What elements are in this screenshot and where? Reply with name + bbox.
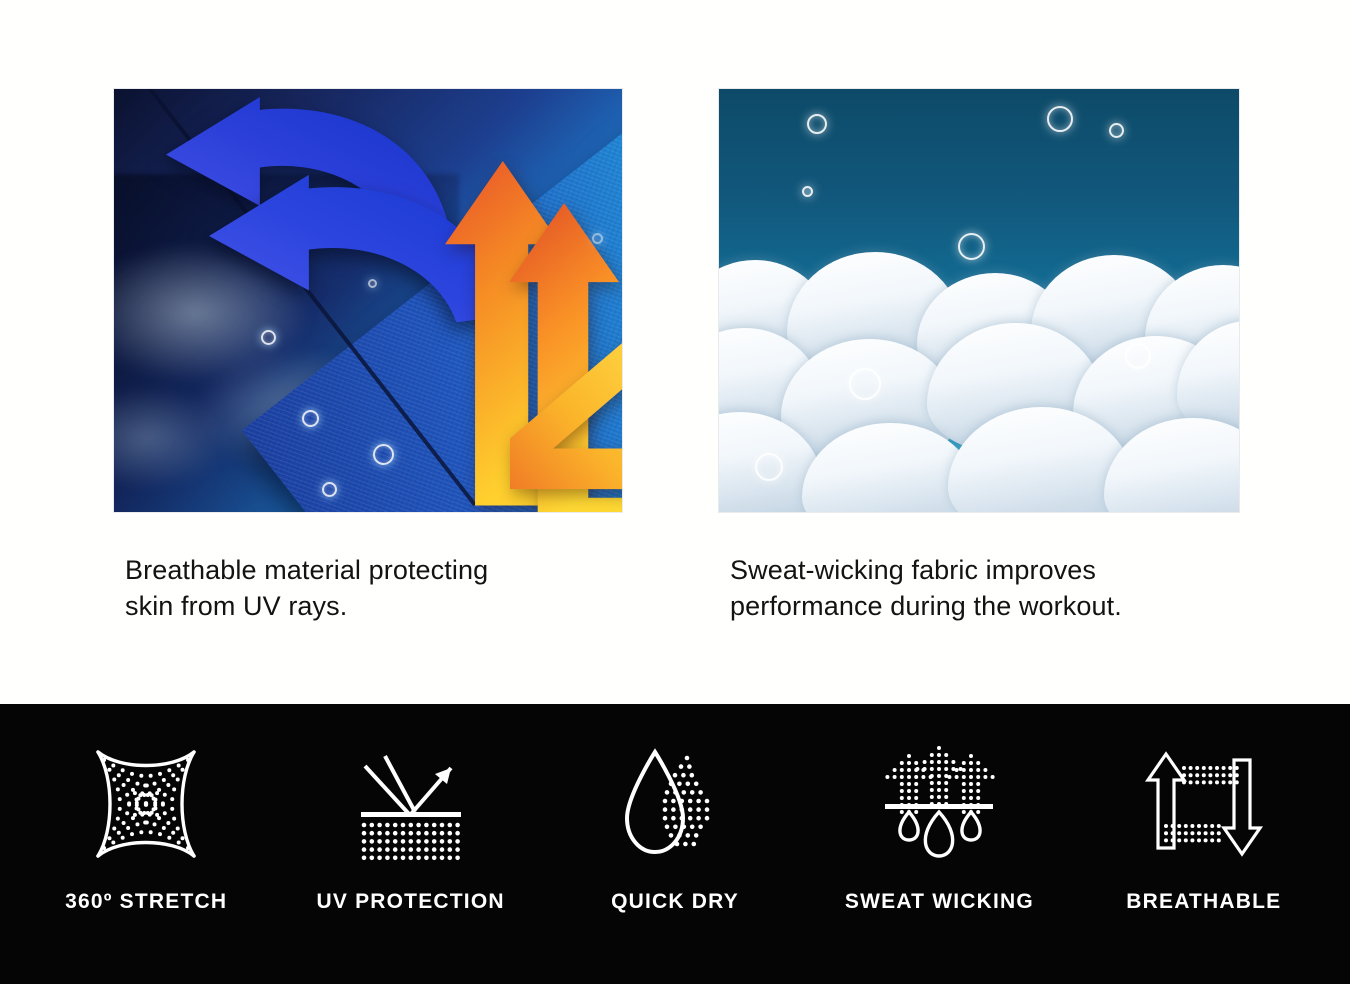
caption-sweat-wicking: Sweat-wicking fabric improves performanc… — [730, 552, 1270, 624]
breathable-uv-fabric-illustration — [113, 88, 623, 513]
bubble — [1109, 123, 1124, 138]
feature-card-sweat-wicking: Sweat-wicking fabric improves performanc… — [718, 88, 1240, 624]
feature-item-sweat-wicking[interactable]: SWEAT WICKING — [807, 704, 1071, 914]
bubble — [849, 368, 881, 400]
caption-breathable: Breathable material protecting skin from… — [125, 552, 645, 624]
feature-item-360-stretch[interactable]: 360º STRETCH — [14, 704, 278, 914]
product-feature-section: Breathable material protecting skin from… — [0, 0, 1350, 704]
feature-label: 360º STRETCH — [65, 890, 227, 914]
feature-label: BREATHABLE — [1126, 890, 1281, 914]
stretch-grid-icon — [85, 744, 207, 864]
feature-card-breathable: Breathable material protecting skin from… — [113, 88, 623, 624]
breathable-loop-icon — [1143, 744, 1265, 864]
heat-band-icon — [510, 292, 623, 504]
bubble — [1047, 106, 1073, 132]
feature-label: UV PROTECTION — [316, 890, 504, 914]
quick-dry-droplet-icon — [614, 744, 736, 864]
feature-item-quick-dry[interactable]: QUICK DRY — [543, 704, 807, 914]
feature-item-breathable[interactable]: BREATHABLE — [1072, 704, 1336, 914]
feature-icon-strip: 360º STRETCH UV PROTECTION QUICK DRY — [0, 704, 1350, 984]
uv-scene-background — [114, 89, 622, 512]
bubble — [755, 453, 783, 481]
feature-label: QUICK DRY — [611, 890, 739, 914]
fiber-cloud-group — [719, 250, 1239, 512]
uv-protection-icon — [350, 744, 472, 864]
sweat-scene-background — [719, 89, 1239, 512]
bubble — [802, 186, 813, 197]
feature-label: SWEAT WICKING — [845, 890, 1034, 914]
bubble — [958, 233, 985, 260]
bubble — [807, 114, 827, 134]
sweat-wicking-fabric-illustration — [718, 88, 1240, 513]
feature-item-uv-protection[interactable]: UV PROTECTION — [278, 704, 542, 914]
bubble — [1125, 343, 1151, 369]
sweat-wicking-icon — [878, 744, 1000, 864]
bubble — [592, 233, 603, 244]
